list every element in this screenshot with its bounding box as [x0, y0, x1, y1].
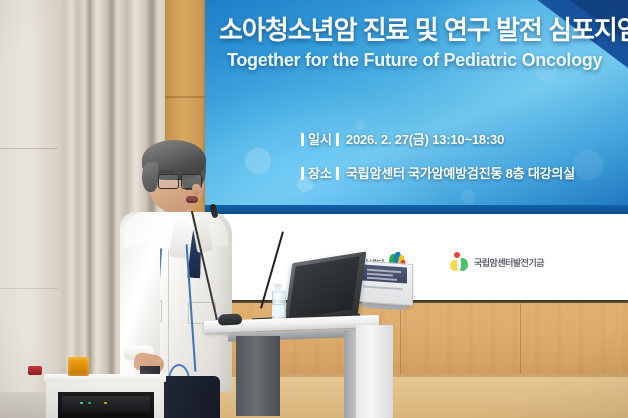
amber-box-object [68, 357, 89, 376]
bottle-neck [275, 286, 281, 293]
venue-value: 국립암센터 국가암예방검진동 8층 대강의실 [346, 166, 575, 181]
nose [192, 184, 201, 195]
bokeh-light [245, 148, 271, 174]
logo-fund-label: 국립암센터발전기금 [474, 256, 544, 269]
projection-screen: 소아청소년암 진료 및 연구 발전 심포지엄 Together for the … [205, 0, 628, 300]
av-led-amber [104, 402, 107, 404]
av-receiver [62, 396, 150, 412]
eyebrow-left [159, 170, 174, 173]
logo-cancer-center-fund: 국립암센터발전기금 [450, 252, 544, 272]
slide-logo-row: 국립암센터 국립암센터발전기금 [205, 214, 628, 300]
venue-label: 장소 [308, 166, 332, 181]
wood-wall-seam-3 [520, 302, 521, 378]
nameplate-screen [361, 264, 407, 283]
bar-right-icon [336, 167, 339, 180]
slide-blue-area: 소아청소년암 진료 및 연구 발전 심포지엄 Together for the … [205, 0, 628, 214]
small-red-object [28, 366, 42, 375]
lectern-column [236, 336, 280, 416]
bar-left-icon [301, 167, 304, 180]
conference-photo: 소아청소년암 진료 및 연구 발전 심포지엄 Together for the … [0, 0, 628, 418]
hair-sideburn [142, 162, 158, 192]
av-led-green [80, 402, 83, 404]
bottle-label [272, 304, 284, 316]
nameplate-display [357, 260, 413, 306]
arm [120, 244, 160, 362]
cabinet-top-surface [44, 374, 166, 382]
bar-left-icon [301, 133, 304, 146]
slide-date-line: 일시2026. 2. 27(금) 13:10~18:30 [301, 129, 504, 148]
lens-left [158, 174, 179, 189]
mouth-speaking [186, 196, 198, 203]
slide-subtitle: Together for the Future of Pediatric Onc… [227, 50, 628, 71]
slide-venue-line: 장소국립암센터 국가암예방검진동 8층 대강의실 [301, 163, 575, 182]
bokeh-light [573, 150, 603, 180]
av-led-green [88, 402, 91, 404]
coat-seam [168, 250, 169, 380]
slide-title: 소아청소년암 진료 및 연구 발전 심포지엄 [219, 10, 628, 47]
date-value: 2026. 2. 27(금) 13:10~18:30 [346, 132, 504, 147]
computer-mouse [218, 313, 243, 325]
lectern-front-panel [356, 325, 393, 418]
date-label: 일시 [308, 132, 332, 147]
bar-right-icon [336, 133, 339, 146]
bottle-cap [274, 284, 282, 287]
nameplate-caption-line [363, 285, 403, 290]
slide-bottom-band [205, 205, 628, 214]
fund-figure-icon [450, 252, 469, 272]
wood-wall-seam-2 [400, 302, 401, 378]
bokeh-light [461, 190, 475, 204]
